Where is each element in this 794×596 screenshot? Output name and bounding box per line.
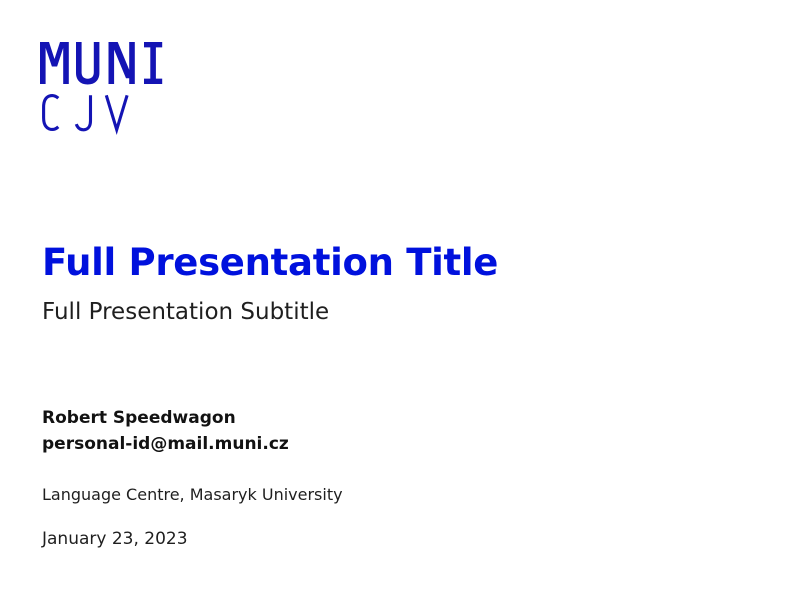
presentation-date: January 23, 2023 (42, 528, 742, 552)
presentation-title-slide: Full Presentation Title Full Presentatio… (0, 0, 794, 596)
page-title: Full Presentation Title (42, 242, 742, 285)
muni-cjv-logo (38, 38, 188, 138)
author-email: personal-id@mail.muni.cz (42, 431, 742, 457)
author-affiliation: Language Centre, Masaryk University (42, 484, 742, 506)
presenter-meta-block: Robert Speedwagon personal-id@mail.muni.… (42, 405, 742, 552)
page-subtitle: Full Presentation Subtitle (42, 299, 742, 327)
logo-line-cjv (44, 95, 128, 129)
logo-line-muni (40, 42, 162, 85)
author-name: Robert Speedwagon (42, 405, 742, 431)
title-block: Full Presentation Title Full Presentatio… (42, 242, 742, 326)
